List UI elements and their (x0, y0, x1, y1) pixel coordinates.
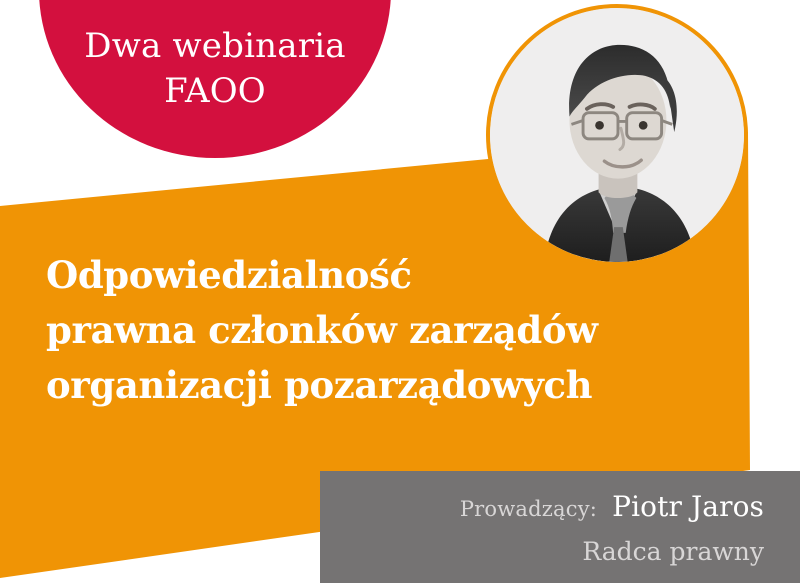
page-title-line-1: Odpowiedzialność (46, 248, 706, 303)
portrait-illustration (490, 8, 744, 262)
badge-title: Dwa webinaria FAOO (52, 24, 378, 114)
speaker-role-label: Prowadzący: (460, 497, 597, 521)
speaker-panel: Prowadzący: Piotr Jaros Radca prawny (320, 471, 800, 583)
badge-title-line-1: Dwa webinaria (52, 24, 378, 69)
speaker-title: Radca prawny (320, 537, 764, 566)
avatar (486, 4, 748, 266)
speaker-row: Prowadzący: Piotr Jaros (320, 493, 764, 521)
page-title-line-2: prawna członków zarządów (46, 303, 706, 358)
badge-title-line-2: FAOO (52, 69, 378, 114)
webinar-banner: Dwa webinaria FAOO Odpowiedzialność praw… (0, 0, 800, 583)
speaker-name: Piotr Jaros (612, 490, 764, 523)
page-title-line-3: organizacji pozarządowych (46, 358, 706, 413)
page-title: Odpowiedzialność prawna członków zarządó… (46, 248, 706, 412)
